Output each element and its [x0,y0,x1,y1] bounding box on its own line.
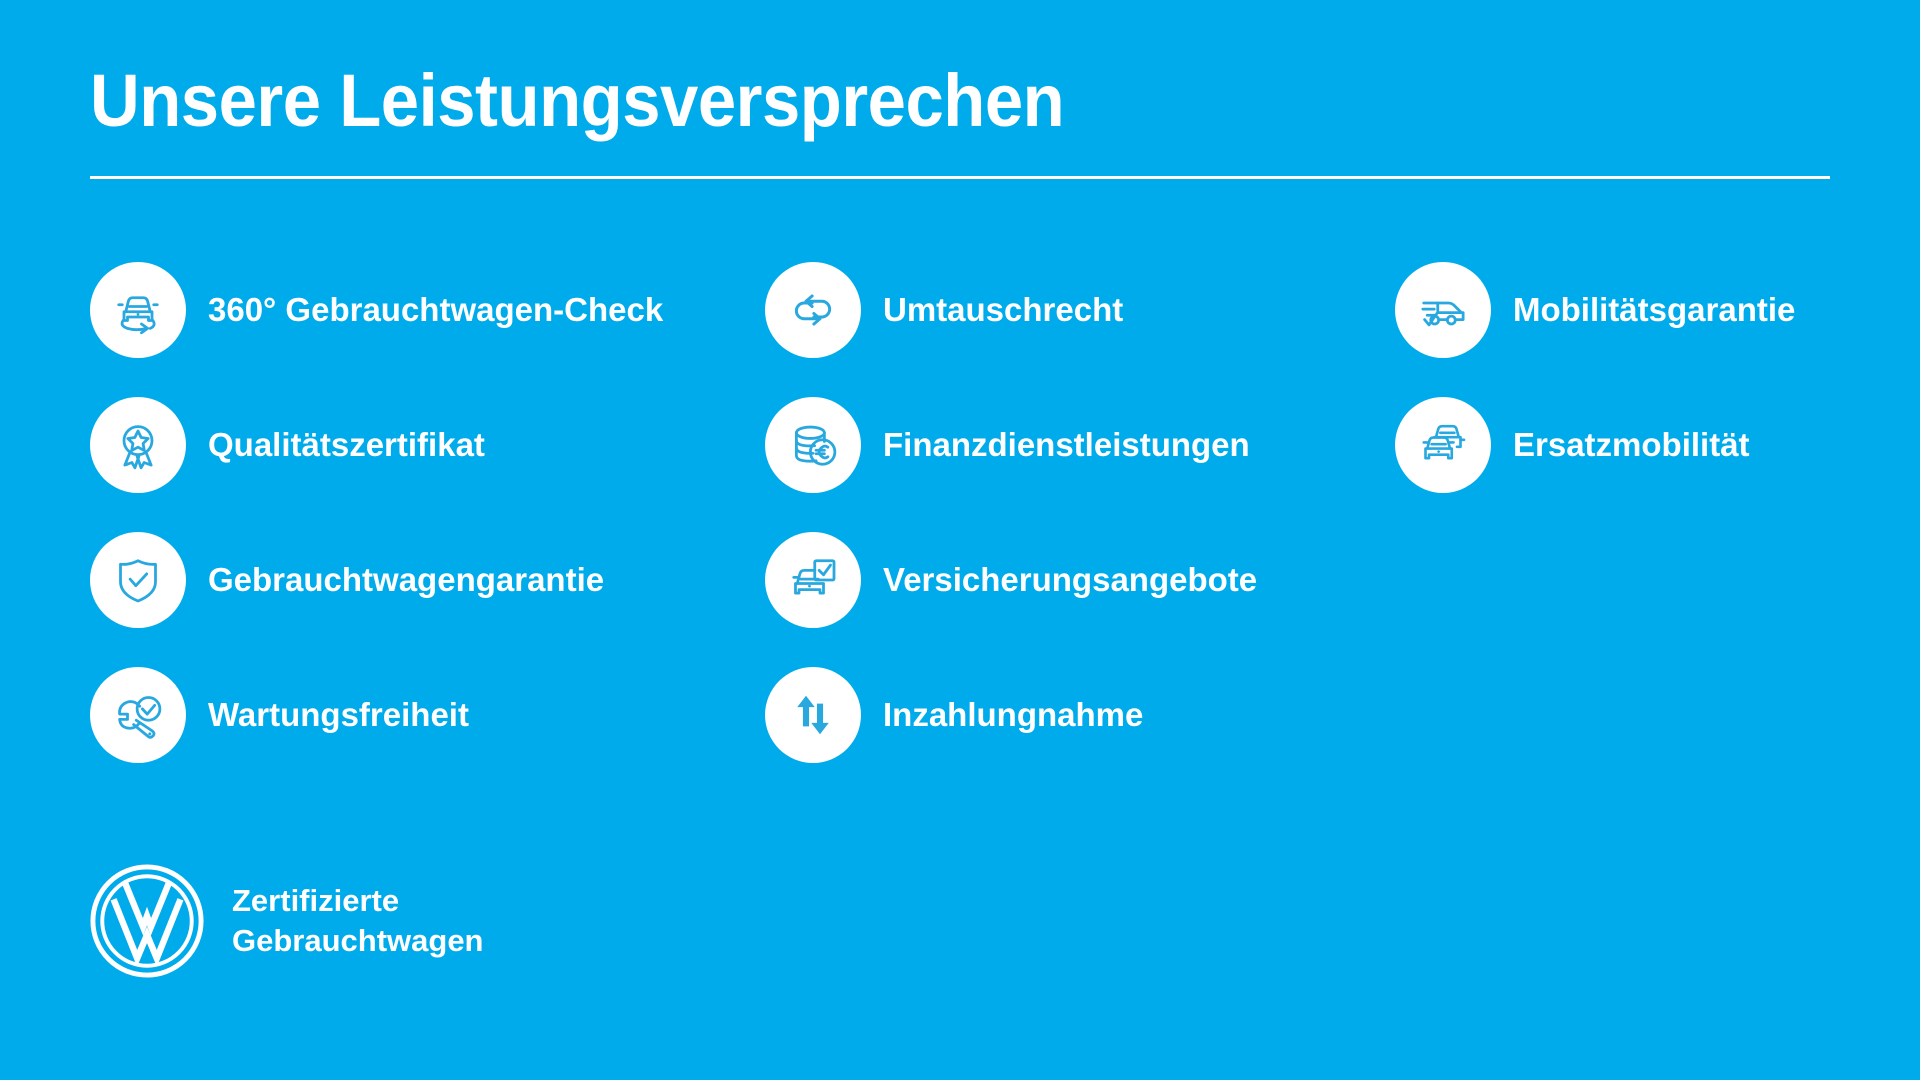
page-title: Unsere Leistungsversprechen [90,62,1064,140]
promise-label: Ersatzmobilität [1513,427,1750,463]
tow-van-check-icon [1395,262,1491,358]
shield-check-icon [90,532,186,628]
car-360-check-icon [90,262,186,358]
coins-euro-icon [765,397,861,493]
award-medal-icon [90,397,186,493]
brand-text-line2: Gebrauchtwagen [232,921,484,961]
promise-label: Inzahlungnahme [883,697,1143,733]
promise-item-qualitaetszertifikat[interactable]: Qualitätszertifikat [90,397,485,493]
brand-text-line1: Zertifizierte [232,881,484,921]
promise-label: Umtauschrecht [883,292,1123,328]
promise-label: Finanzdienstleistungen [883,427,1250,463]
promise-label: Qualitätszertifikat [208,427,485,463]
promise-item-gebrauchtwagengarantie[interactable]: Gebrauchtwagengarantie [90,532,604,628]
promises-slide: Unsere Leistungsversprechen [0,0,1920,1080]
promise-item-mobilitaetsgarantie[interactable]: Mobilitätsgarantie [1395,262,1795,358]
promise-item-360-check[interactable]: 360° Gebrauchtwagen-Check [90,262,663,358]
promise-item-inzahlungnahme[interactable]: Inzahlungnahme [765,667,1143,763]
promise-item-umtauschrecht[interactable]: Umtauschrecht [765,262,1123,358]
exchange-arrows-icon [765,262,861,358]
promise-label: Mobilitätsgarantie [1513,292,1795,328]
car-checkbox-icon [765,532,861,628]
promise-label: Wartungsfreiheit [208,697,469,733]
brand-lockup: Zertifizierte Gebrauchtwagen [88,862,484,980]
promise-label: Versicherungsangebote [883,562,1257,598]
promise-item-versicherungsangebote[interactable]: Versicherungsangebote [765,532,1257,628]
two-cars-icon [1395,397,1491,493]
promise-label: 360° Gebrauchtwagen-Check [208,292,663,328]
promise-item-wartungsfreiheit[interactable]: Wartungsfreiheit [90,667,469,763]
title-divider [90,176,1830,179]
promise-label: Gebrauchtwagengarantie [208,562,604,598]
promise-item-finanzdienstleistungen[interactable]: Finanzdienstleistungen [765,397,1250,493]
promise-item-ersatzmobilitaet[interactable]: Ersatzmobilität [1395,397,1750,493]
brand-text: Zertifizierte Gebrauchtwagen [232,881,484,960]
up-down-arrows-icon [765,667,861,763]
volkswagen-logo-icon [88,862,206,980]
wrench-check-icon [90,667,186,763]
